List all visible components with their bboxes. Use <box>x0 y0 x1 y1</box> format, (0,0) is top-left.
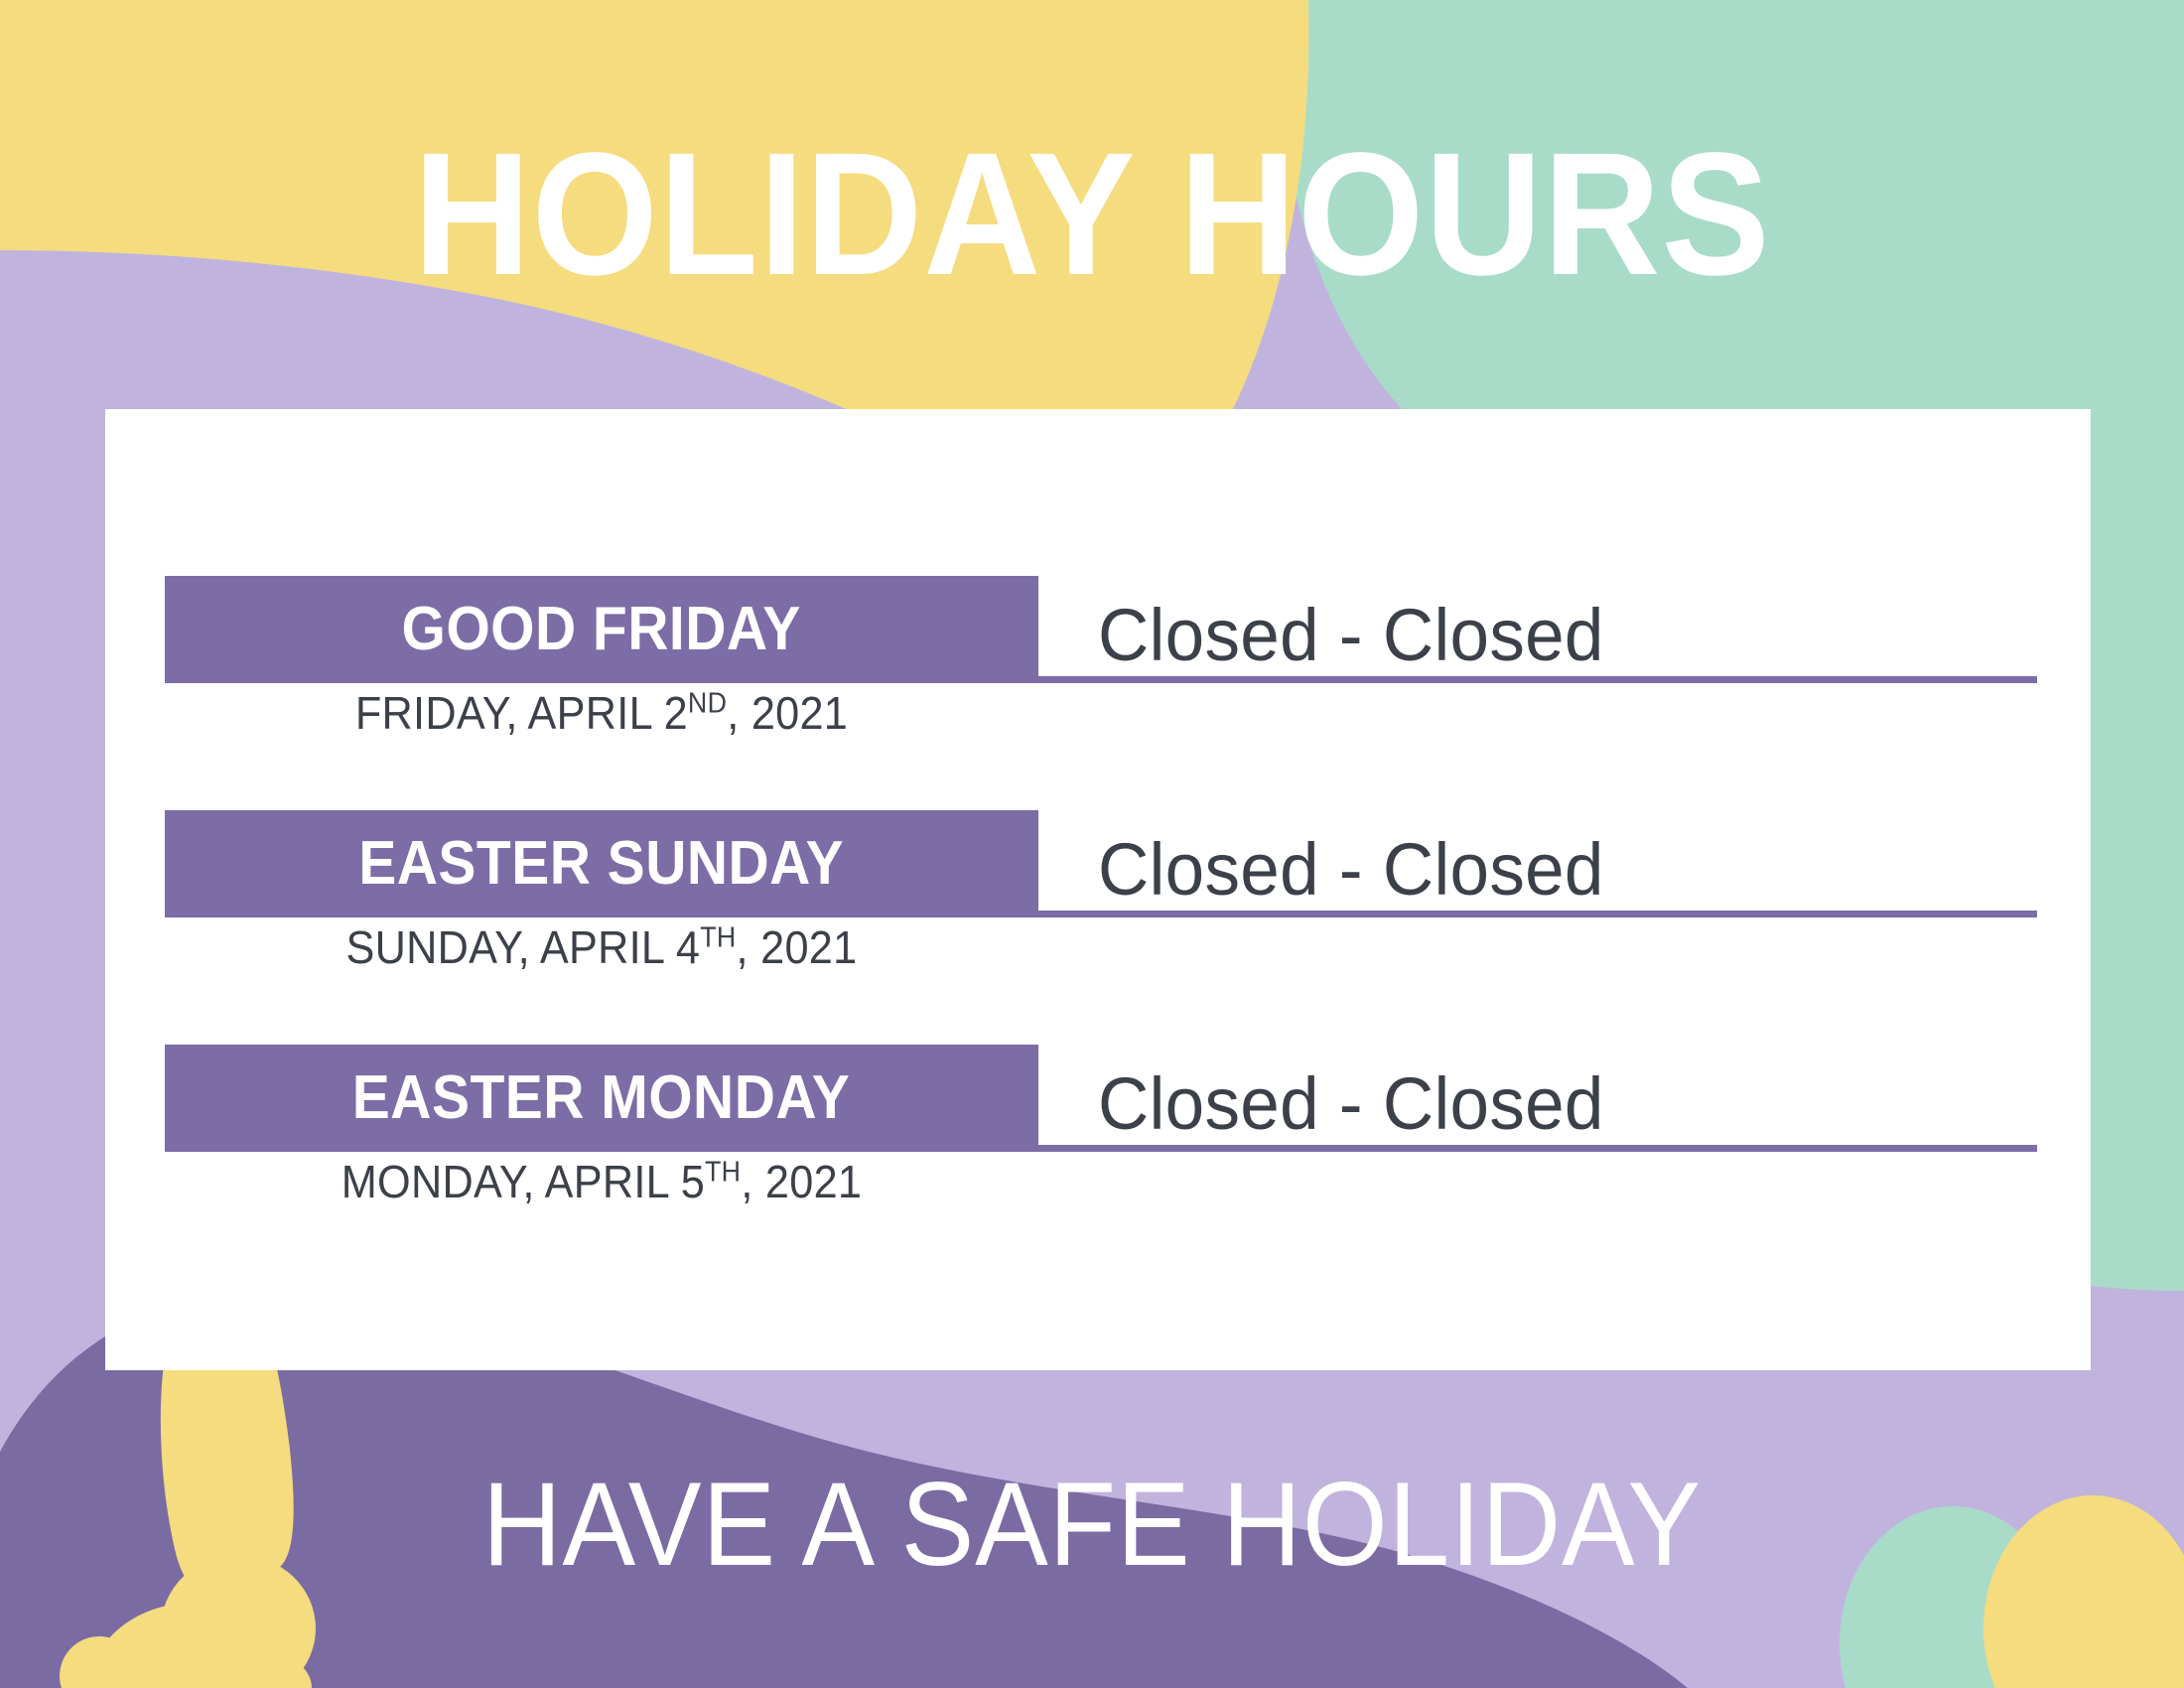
holiday-hours-poster: HOLIDAY HOURS GOOD FRIDAY FRIDAY, APRIL … <box>0 0 2184 1688</box>
holiday-name-label: EASTER MONDAY <box>352 1067 850 1129</box>
schedule-card: GOOD FRIDAY FRIDAY, APRIL 2ND, 2021 Clos… <box>105 409 2091 1370</box>
page-title: HOLIDAY HOURS <box>76 127 2108 302</box>
date-prefix: MONDAY, APRIL 5 <box>341 1156 705 1207</box>
holiday-date-label: MONDAY, APRIL 5TH, 2021 <box>191 1156 1012 1208</box>
holiday-hours-value: Closed - Closed <box>1098 1067 1604 1141</box>
holiday-date-label: SUNDAY, APRIL 4TH, 2021 <box>191 921 1012 974</box>
date-ordinal: ND <box>688 688 727 720</box>
holiday-name-bar: GOOD FRIDAY <box>165 576 1038 683</box>
holiday-name-bar: EASTER MONDAY <box>165 1045 1038 1152</box>
date-prefix: SUNDAY, APRIL 4 <box>346 921 701 973</box>
date-ordinal: TH <box>705 1157 741 1189</box>
footer-message: HAVE A SAFE HOLIDAY <box>87 1465 2097 1584</box>
holiday-hours-value: Closed - Closed <box>1098 833 1604 907</box>
holiday-date-label: FRIDAY, APRIL 2ND, 2021 <box>191 687 1012 740</box>
holiday-hours-cell: Closed - Closed <box>1038 1039 2037 1152</box>
date-suffix: , 2021 <box>737 921 858 973</box>
holiday-name-label: GOOD FRIDAY <box>402 599 801 660</box>
holiday-name-label: EASTER SUNDAY <box>359 833 845 895</box>
date-ordinal: TH <box>700 922 736 954</box>
holiday-name-bar: EASTER SUNDAY <box>165 810 1038 917</box>
holiday-hours-cell: Closed - Closed <box>1038 804 2037 917</box>
date-suffix: , 2021 <box>741 1156 862 1207</box>
holiday-hours-value: Closed - Closed <box>1098 599 1604 672</box>
date-suffix: , 2021 <box>727 687 848 739</box>
holiday-hours-cell: Closed - Closed <box>1038 570 2037 683</box>
date-prefix: FRIDAY, APRIL 2 <box>355 687 688 739</box>
